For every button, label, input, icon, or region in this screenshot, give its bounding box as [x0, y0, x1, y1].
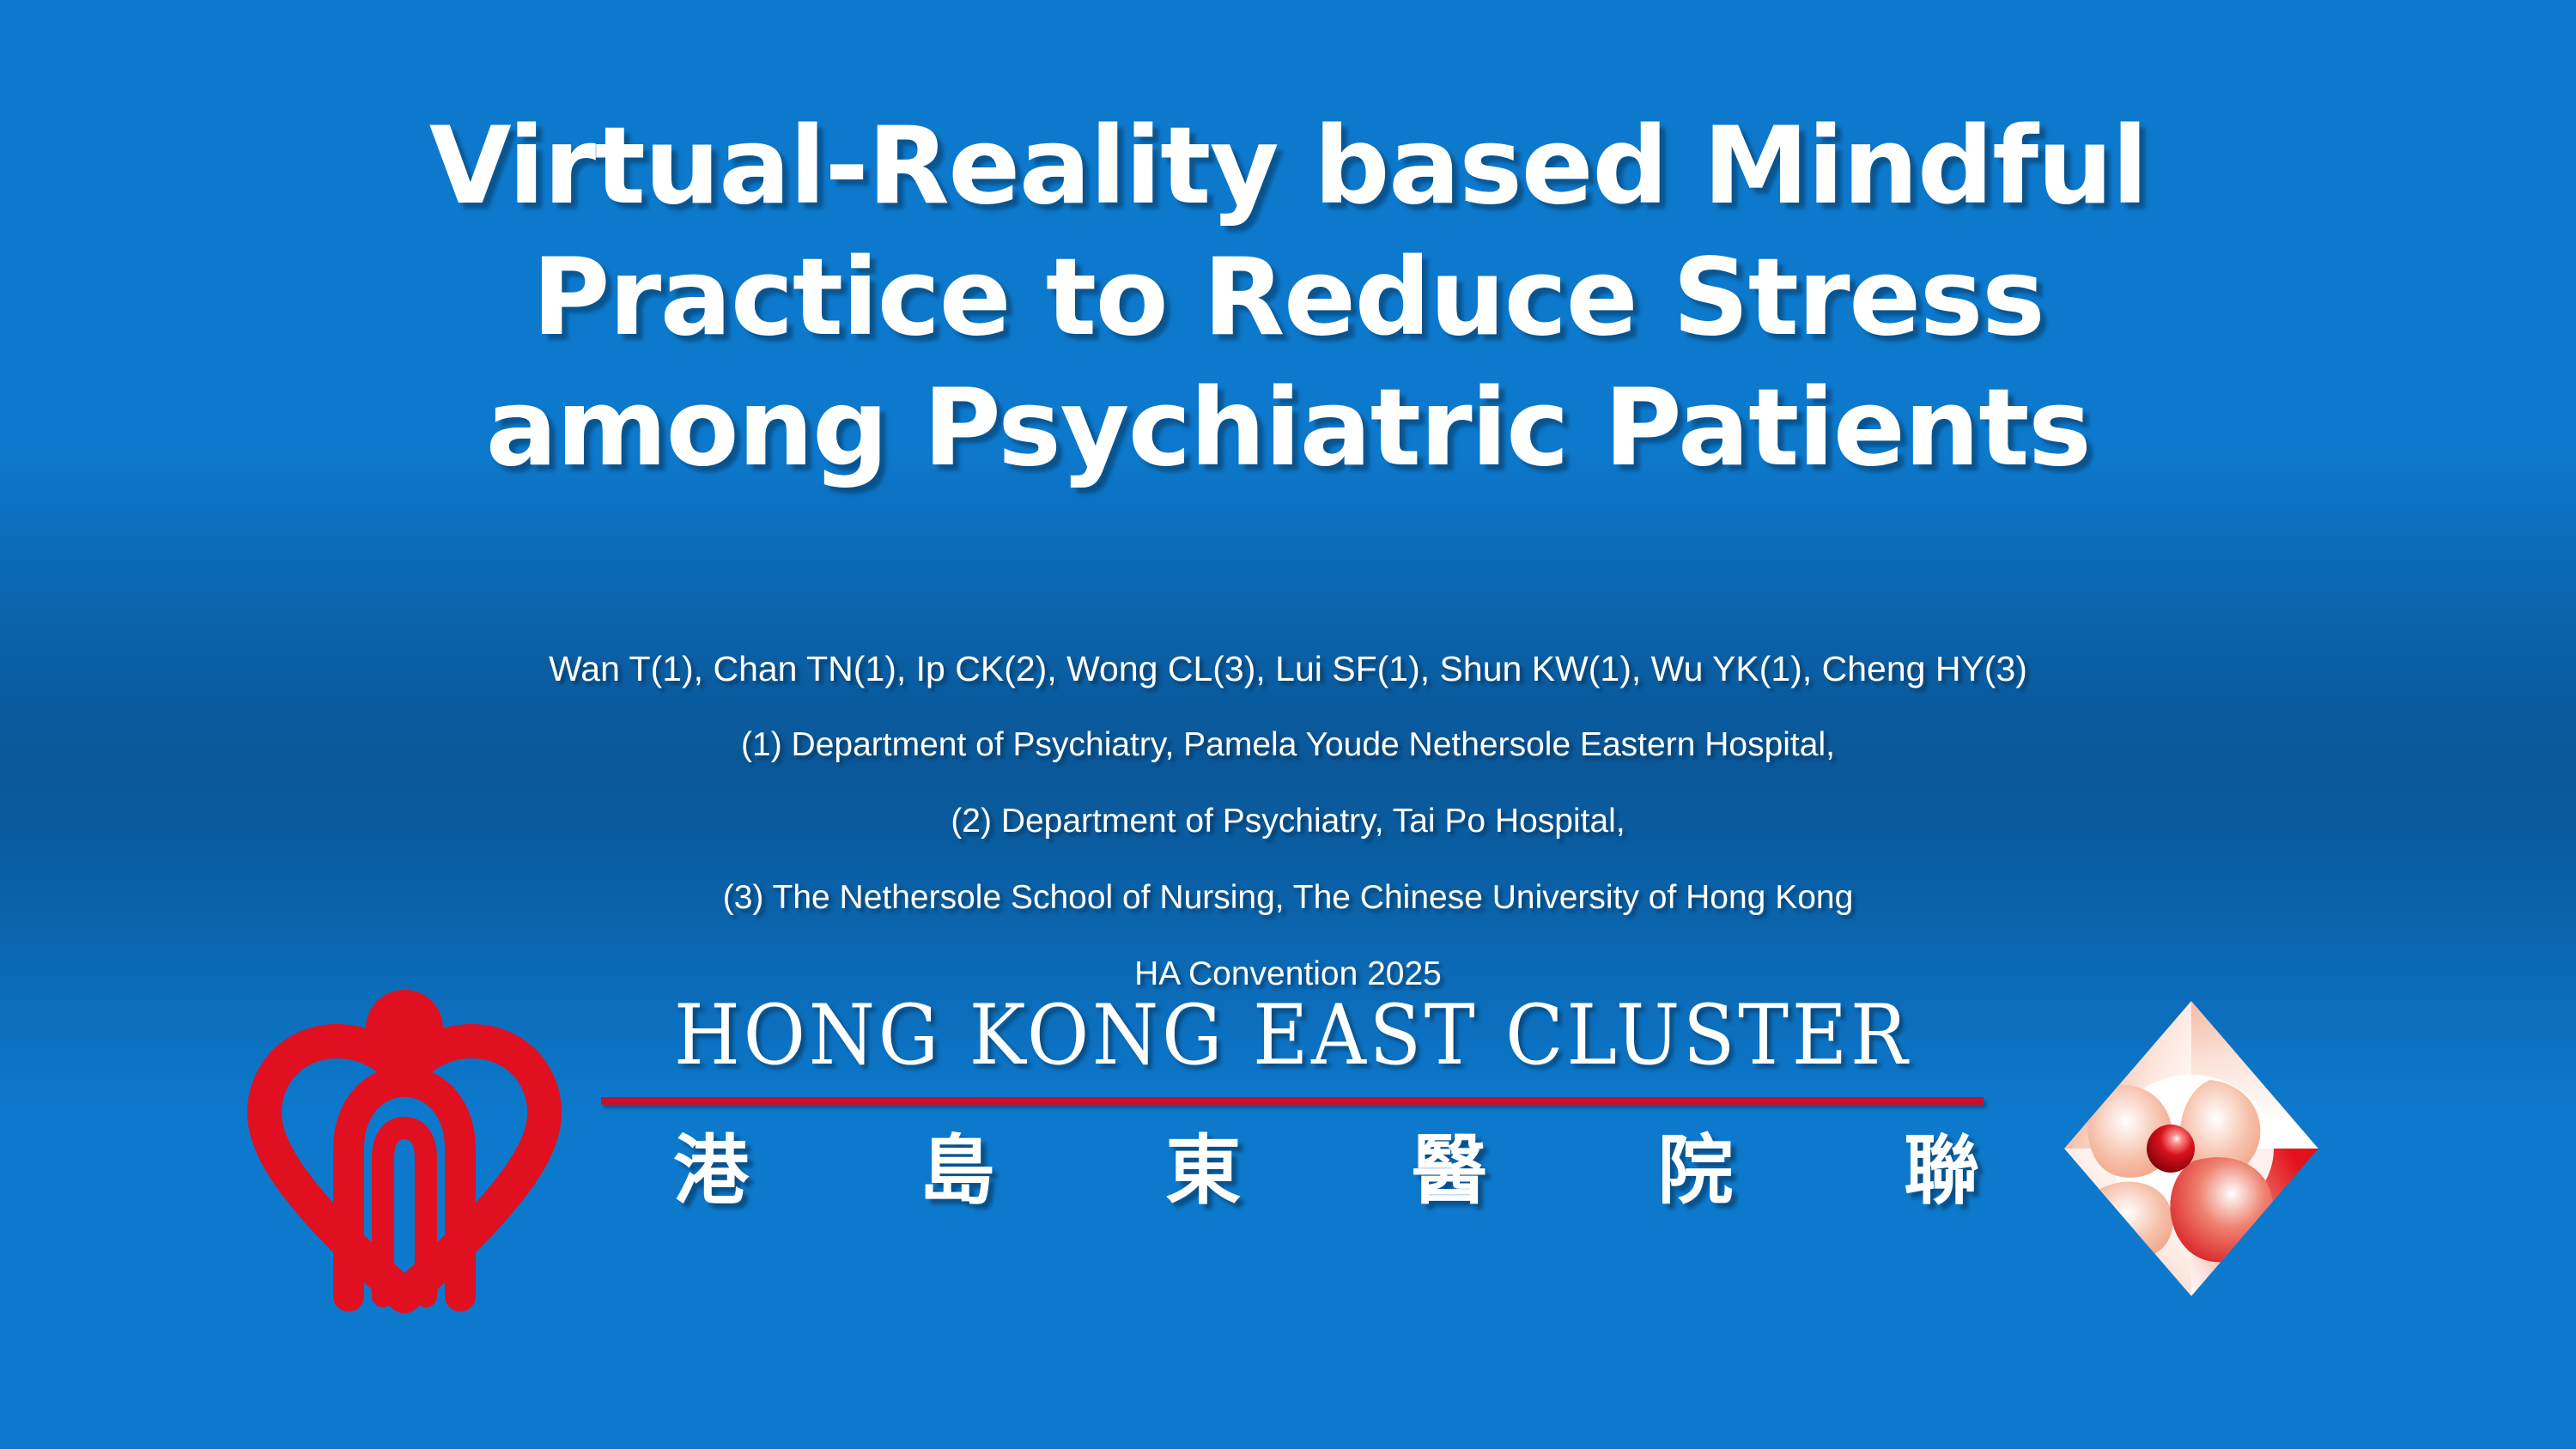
cluster-diamond-logo-icon — [2042, 977, 2341, 1320]
affiliation-3: (3) The Nethersole School of Nursing, Th… — [0, 860, 2576, 937]
affiliation-1: (1) Department of Psychiatry, Pamela You… — [0, 707, 2576, 784]
authors-and-affiliations: Wan T(1), Chan TN(1), Ip CK(2), Wong CL(… — [0, 631, 2576, 1013]
logo-bar: HONG KONG EAST CLUSTER 港 島 東 醫 院 聯 網 — [0, 961, 2576, 1339]
title-line-1: Virtual-Reality based Mindful — [155, 101, 2421, 233]
affiliation-2: (2) Department of Psychiatry, Tai Po Hos… — [0, 784, 2576, 860]
title-line-2: Practice to Reduce Stress — [155, 233, 2421, 364]
wordmark-chinese: 港 島 東 醫 院 聯 網 — [601, 1127, 1984, 1215]
title-line-3: among Psychiatric Patients — [155, 363, 2421, 494]
wordmark-english: HONG KONG EAST CLUSTER — [656, 994, 1928, 1076]
hospital-authority-heart-logo-icon — [246, 977, 563, 1320]
author-list: Wan T(1), Chan TN(1), Ip CK(2), Wong CL(… — [0, 631, 2576, 707]
wordmark-red-rule — [601, 1097, 1984, 1105]
slide-title: Virtual-Reality based Mindful Practice t… — [0, 101, 2576, 494]
cluster-wordmark: HONG KONG EAST CLUSTER 港 島 東 醫 院 聯 網 — [601, 994, 1984, 1215]
